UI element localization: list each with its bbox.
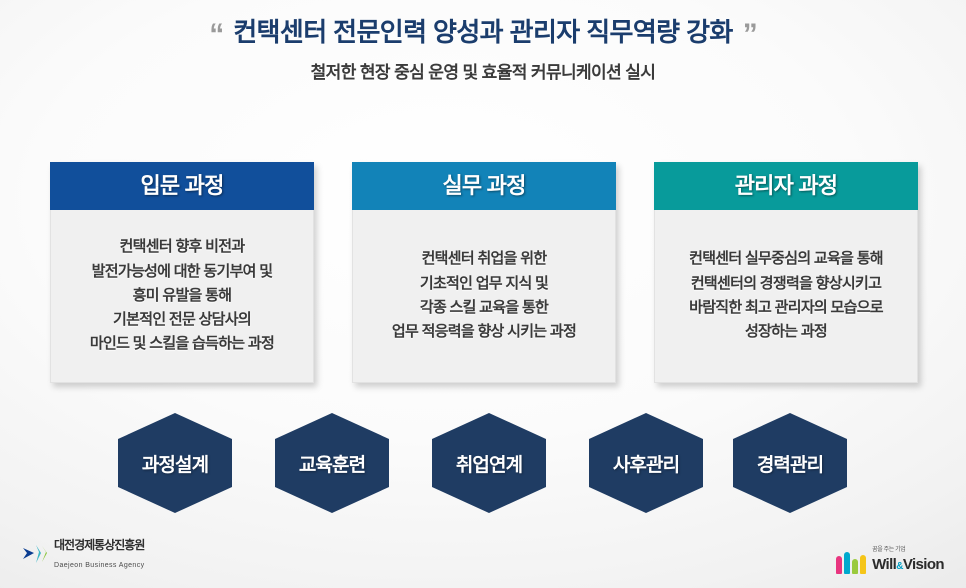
process-step-hexagon: 경력관리 (733, 413, 847, 513)
will-and-vision-logo: 꿈을 주는 기업 Will&Vision (836, 538, 944, 574)
will-vision-text: 꿈을 주는 기업 Will&Vision (872, 538, 944, 574)
process-step-label: 경력관리 (757, 450, 823, 477)
dba-name-en: Daejeon Business Agency (54, 562, 145, 569)
course-card-line: 성장하는 과정 (745, 320, 827, 344)
will-word: Will (872, 556, 896, 573)
process-step-label: 교육훈련 (299, 450, 365, 477)
course-card-line: 마인드 및 스킬을 습득하는 과정 (90, 332, 274, 356)
will-vision-bars-icon (836, 552, 866, 574)
process-step-hexagon: 과정설계 (118, 413, 232, 513)
process-step-hexagon: 사후관리 (589, 413, 703, 513)
dba-logo-text: 대전경제통상진흥원 Daejeon Business Agency (54, 536, 145, 572)
course-card-line: 업무 적응력을 향상 시키는 과정 (392, 320, 576, 344)
dba-name-kr: 대전경제통상진흥원 (54, 538, 144, 552)
course-card-header: 실무 과정 (352, 162, 616, 210)
course-card-list: 입문 과정 컨택센터 향후 비전과 발전가능성에 대한 동기부여 및 흥미 유발… (50, 162, 918, 383)
course-card-line: 기초적인 업무 지식 및 (420, 272, 548, 296)
process-step-label: 사후관리 (613, 450, 679, 477)
course-card-line: 각종 스킬 교육을 통한 (420, 296, 548, 320)
course-card-manager: 관리자 과정 컨택센터 실무중심의 교육을 통해 컨택센터의 경쟁력을 향상시키… (654, 162, 918, 383)
page-subtitle: 철저한 현장 중심 운영 및 효율적 커뮤니케이션 실시 (0, 58, 966, 83)
process-step-hexagon: 취업연계 (432, 413, 546, 513)
course-card-line: 기본적인 전문 상담사의 (113, 308, 251, 332)
course-card-line: 컨택센터 취업을 위한 (422, 247, 547, 271)
quote-close-icon: ” (743, 20, 757, 50)
course-card-practice: 실무 과정 컨택센터 취업을 위한 기초적인 업무 지식 및 각종 스킬 교육을… (352, 162, 616, 383)
course-card-body: 컨택센터 향후 비전과 발전가능성에 대한 동기부여 및 흥미 유발을 통해 기… (50, 210, 314, 383)
process-step-list: 과정설계 교육훈련 취업연계 사후관리 경력관리 (0, 413, 966, 518)
process-step-hexagon: 교육훈련 (275, 413, 389, 513)
dba-mark-icon (22, 543, 49, 565)
page-title: 컨택센터 전문인력 양성과 관리자 직무역량 강화 (233, 16, 733, 49)
course-card-line: 흥미 유발을 통해 (133, 284, 232, 308)
daejeon-business-agency-logo: 대전경제통상진흥원 Daejeon Business Agency (22, 536, 145, 572)
vision-word: Vision (903, 556, 944, 573)
course-card-body: 컨택센터 취업을 위한 기초적인 업무 지식 및 각종 스킬 교육을 통한 업무… (352, 210, 616, 383)
course-card-line: 발전가능성에 대한 동기부여 및 (92, 260, 273, 284)
ampersand: & (896, 561, 903, 572)
course-card-line: 컨택센터의 경쟁력을 향상시키고 (691, 272, 881, 296)
course-card-line: 컨택센터 향후 비전과 (120, 235, 245, 259)
course-card-header: 관리자 과정 (654, 162, 918, 210)
process-step-label: 취업연계 (456, 450, 522, 477)
will-vision-tagline: 꿈을 주는 기업 (872, 547, 905, 553)
title-row: “ 컨택센터 전문인력 양성과 관리자 직무역량 강화 ” (0, 16, 966, 50)
course-card-intro: 입문 과정 컨택센터 향후 비전과 발전가능성에 대한 동기부여 및 흥미 유발… (50, 162, 314, 383)
quote-open-icon: “ (209, 20, 223, 50)
process-step-label: 과정설계 (142, 450, 208, 477)
title-block: “ 컨택센터 전문인력 양성과 관리자 직무역량 강화 ” 철저한 현장 중심 … (0, 16, 966, 83)
course-card-body: 컨택센터 실무중심의 교육을 통해 컨택센터의 경쟁력을 향상시키고 바람직한 … (654, 210, 918, 383)
course-card-line: 컨택센터 실무중심의 교육을 통해 (689, 247, 883, 271)
course-card-header: 입문 과정 (50, 162, 314, 210)
slide-root: “ 컨택센터 전문인력 양성과 관리자 직무역량 강화 ” 철저한 현장 중심 … (0, 0, 966, 588)
will-vision-name: Will&Vision (872, 556, 944, 573)
course-card-line: 바람직한 최고 관리자의 모습으로 (689, 296, 883, 320)
